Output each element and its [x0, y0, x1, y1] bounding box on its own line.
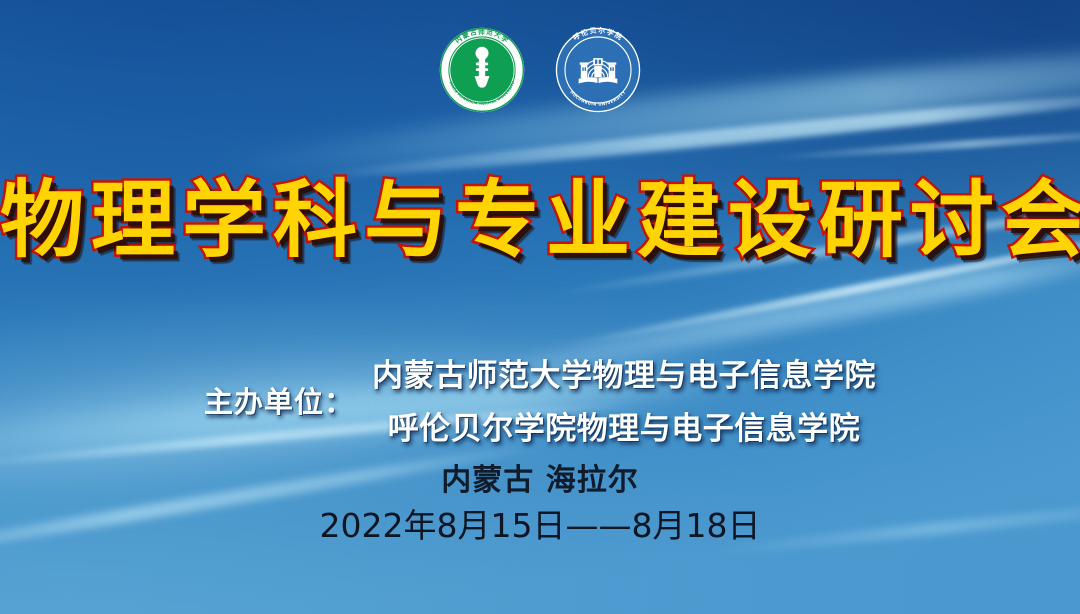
organizer-list: 内蒙古师范大学物理与电子信息学院 呼伦贝尔学院物理与电子信息学院: [372, 350, 876, 448]
organizer-label: 主办单位：: [204, 377, 354, 421]
page-title: 物理学科与专业建设研讨会: [0, 178, 1080, 262]
organizer-name-secondary: 呼伦贝尔学院物理与电子信息学院: [388, 403, 861, 448]
organizer-block: 主办单位： 内蒙古师范大学物理与电子信息学院 呼伦贝尔学院物理与电子信息学院: [0, 350, 1080, 448]
hulunbuir-university-logo: 呼伦贝尔学院 HULUNBUIR UNIVERSITY: [554, 26, 642, 114]
venue-location: 内蒙古 海拉尔: [0, 462, 1080, 500]
inner-mongolia-normal-university-logo: 内蒙古师范大学 INNER MONGOLIA NORMAL UNIVERSITY: [438, 26, 526, 114]
conference-banner: 内蒙古师范大学 INNER MONGOLIA NORMAL UNIVERSITY: [0, 0, 1080, 614]
title-area: 物理学科与专业建设研讨会: [0, 178, 1080, 262]
logo-row: 内蒙古师范大学 INNER MONGOLIA NORMAL UNIVERSITY: [0, 26, 1080, 114]
venue-block: 内蒙古 海拉尔 2022年8月15日——8月18日: [0, 462, 1080, 545]
organizer-name-primary: 内蒙古师范大学物理与电子信息学院: [372, 350, 876, 395]
event-dates: 2022年8月15日——8月18日: [0, 506, 1080, 546]
